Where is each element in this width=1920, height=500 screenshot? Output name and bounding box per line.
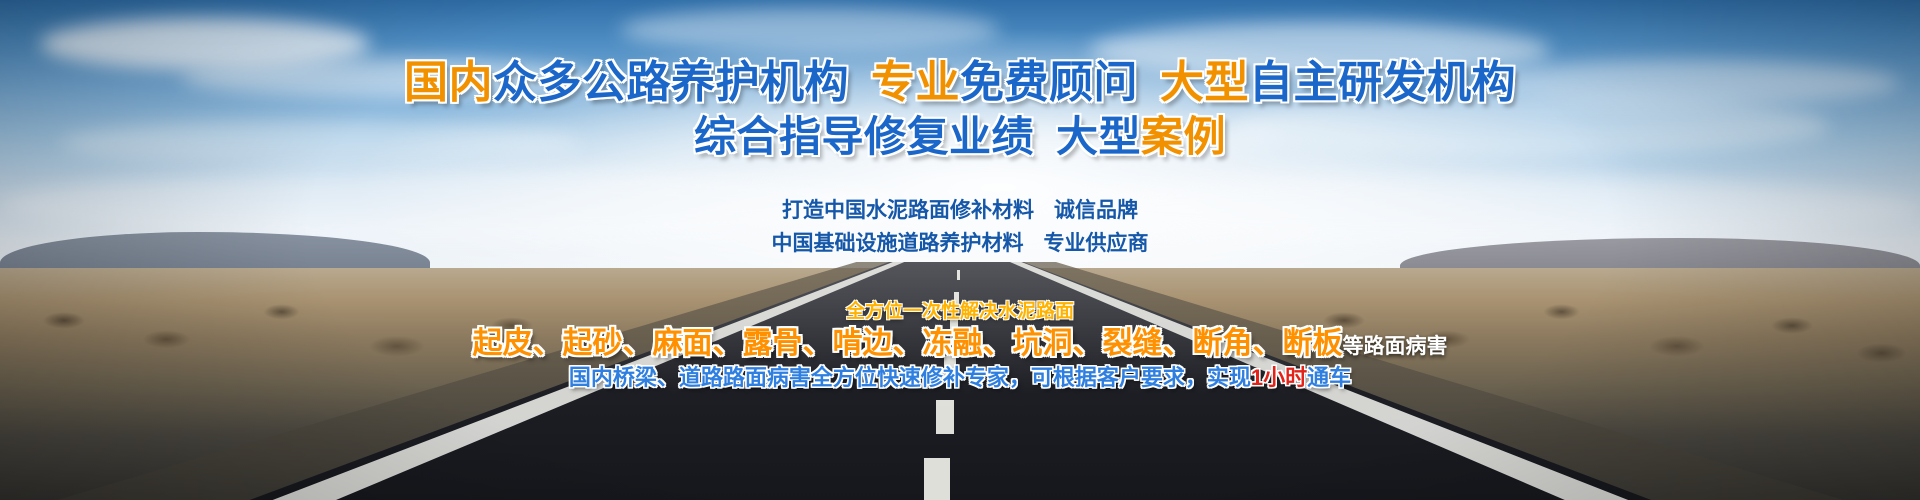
foot-line-tail: 通车	[1307, 365, 1351, 390]
headline-segment-daxing: 大型	[1160, 58, 1249, 107]
headline-line-2: 综合指导修复业绩大型案例	[0, 103, 1920, 164]
headline-segment-zonghe: 综合指导修复业绩	[694, 113, 1034, 160]
headline-segment-zhuanye: 专业	[871, 58, 960, 107]
subtitle-line-2: 中国基础设施道路养护材料专业供应商	[0, 227, 1920, 257]
headline-segment-zizhu: 自主研发机构	[1249, 58, 1516, 107]
foot-line-main: 国内桥梁、道路路面病害全方位快速修补专家，可根据客户要求，实现	[569, 365, 1251, 390]
foot-line: 国内桥梁、道路路面病害全方位快速修补专家，可根据客户要求，实现1小时通车	[0, 360, 1920, 392]
damage-list-items: 起皮、起砂、麻面、露骨、啃边、冻融、坑洞、裂缝、断角、断板	[473, 327, 1343, 360]
subtitle-2-main: 中国基础设施道路养护材料	[772, 232, 1024, 255]
headline-segment-anli: 案例	[1141, 113, 1226, 160]
promo-banner: 国内众多公路养护机构专业免费顾问大型自主研发机构 综合指导修复业绩大型案例 打造…	[0, 0, 1920, 500]
banner-text-layer: 国内众多公路养护机构专业免费顾问大型自主研发机构 综合指导修复业绩大型案例 打造…	[0, 0, 1920, 500]
headline-segment-daxing-2: 大型	[1056, 113, 1141, 160]
subtitle-line-1: 打造中国水泥路面修补材料诚信品牌	[0, 194, 1920, 224]
headline-segment-mianfei: 免费顾问	[960, 58, 1138, 107]
subtitle-2-supplier: 专业供应商	[1044, 232, 1149, 255]
headline-segment-guonei: 国内	[404, 58, 493, 107]
headline-line-1: 国内众多公路养护机构专业免费顾问大型自主研发机构	[0, 46, 1920, 110]
damage-list-line: 起皮、起砂、麻面、露骨、啃边、冻融、坑洞、裂缝、断角、断板等路面病害	[0, 318, 1920, 362]
subtitle-1-brand: 诚信品牌	[1054, 199, 1138, 222]
damage-list-suffix: 等路面病害	[1343, 335, 1448, 358]
headline-segment-zhongduo: 众多公路养护机构	[493, 58, 849, 107]
foot-line-highlight: 1小时	[1251, 365, 1307, 390]
subtitle-1-main: 打造中国水泥路面修补材料	[782, 199, 1034, 222]
